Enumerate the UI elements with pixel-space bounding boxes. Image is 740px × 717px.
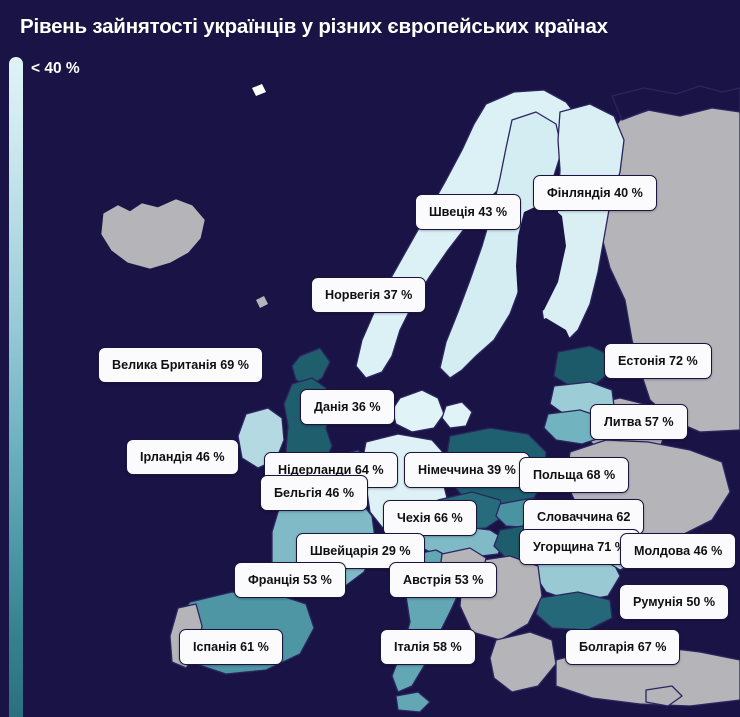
country-estonia	[554, 346, 610, 386]
map-label-lithuania[interactable]: Литва 57 %	[590, 404, 688, 440]
map-label-romania[interactable]: Румунія 50 %	[619, 584, 729, 620]
map-label-uk[interactable]: Велика Британія 69 %	[98, 347, 263, 383]
map-label-ireland[interactable]: Ірландія 46 %	[126, 439, 239, 475]
map-label-france[interactable]: Франція 53 %	[234, 562, 346, 598]
map-label-bulgaria[interactable]: Болгарія 67 %	[565, 629, 680, 665]
page-title: Рівень зайнятості українців у різних євр…	[20, 15, 608, 39]
map-label-belgium[interactable]: Бельгія 46 %	[260, 475, 368, 511]
map-label-germany[interactable]: Німеччина 39 %	[404, 452, 530, 488]
map-label-poland[interactable]: Польща 68 %	[519, 457, 629, 493]
map-label-norway[interactable]: Норвегія 37 %	[311, 277, 426, 313]
map-label-czechia[interactable]: Чехія 66 %	[383, 500, 477, 536]
map-label-denmark[interactable]: Данія 36 %	[300, 389, 395, 425]
map-label-sweden[interactable]: Швеція 43 %	[415, 194, 521, 230]
country-bulgaria	[536, 592, 612, 630]
map-infographic: Рівень зайнятості українців у різних євр…	[0, 0, 740, 717]
map-label-estonia[interactable]: Естонія 72 %	[604, 343, 712, 379]
map-label-spain[interactable]: Іспанія 61 %	[179, 629, 283, 665]
map-label-moldova[interactable]: Молдова 46 %	[620, 533, 736, 569]
legend-label: < 40 %	[31, 60, 80, 78]
legend-gradient-bar	[9, 57, 23, 717]
map-label-austria[interactable]: Австрія 53 %	[389, 562, 497, 598]
map-label-italy[interactable]: Італія 58 %	[380, 629, 476, 665]
map-label-finland[interactable]: Фінляндія 40 %	[533, 175, 657, 211]
